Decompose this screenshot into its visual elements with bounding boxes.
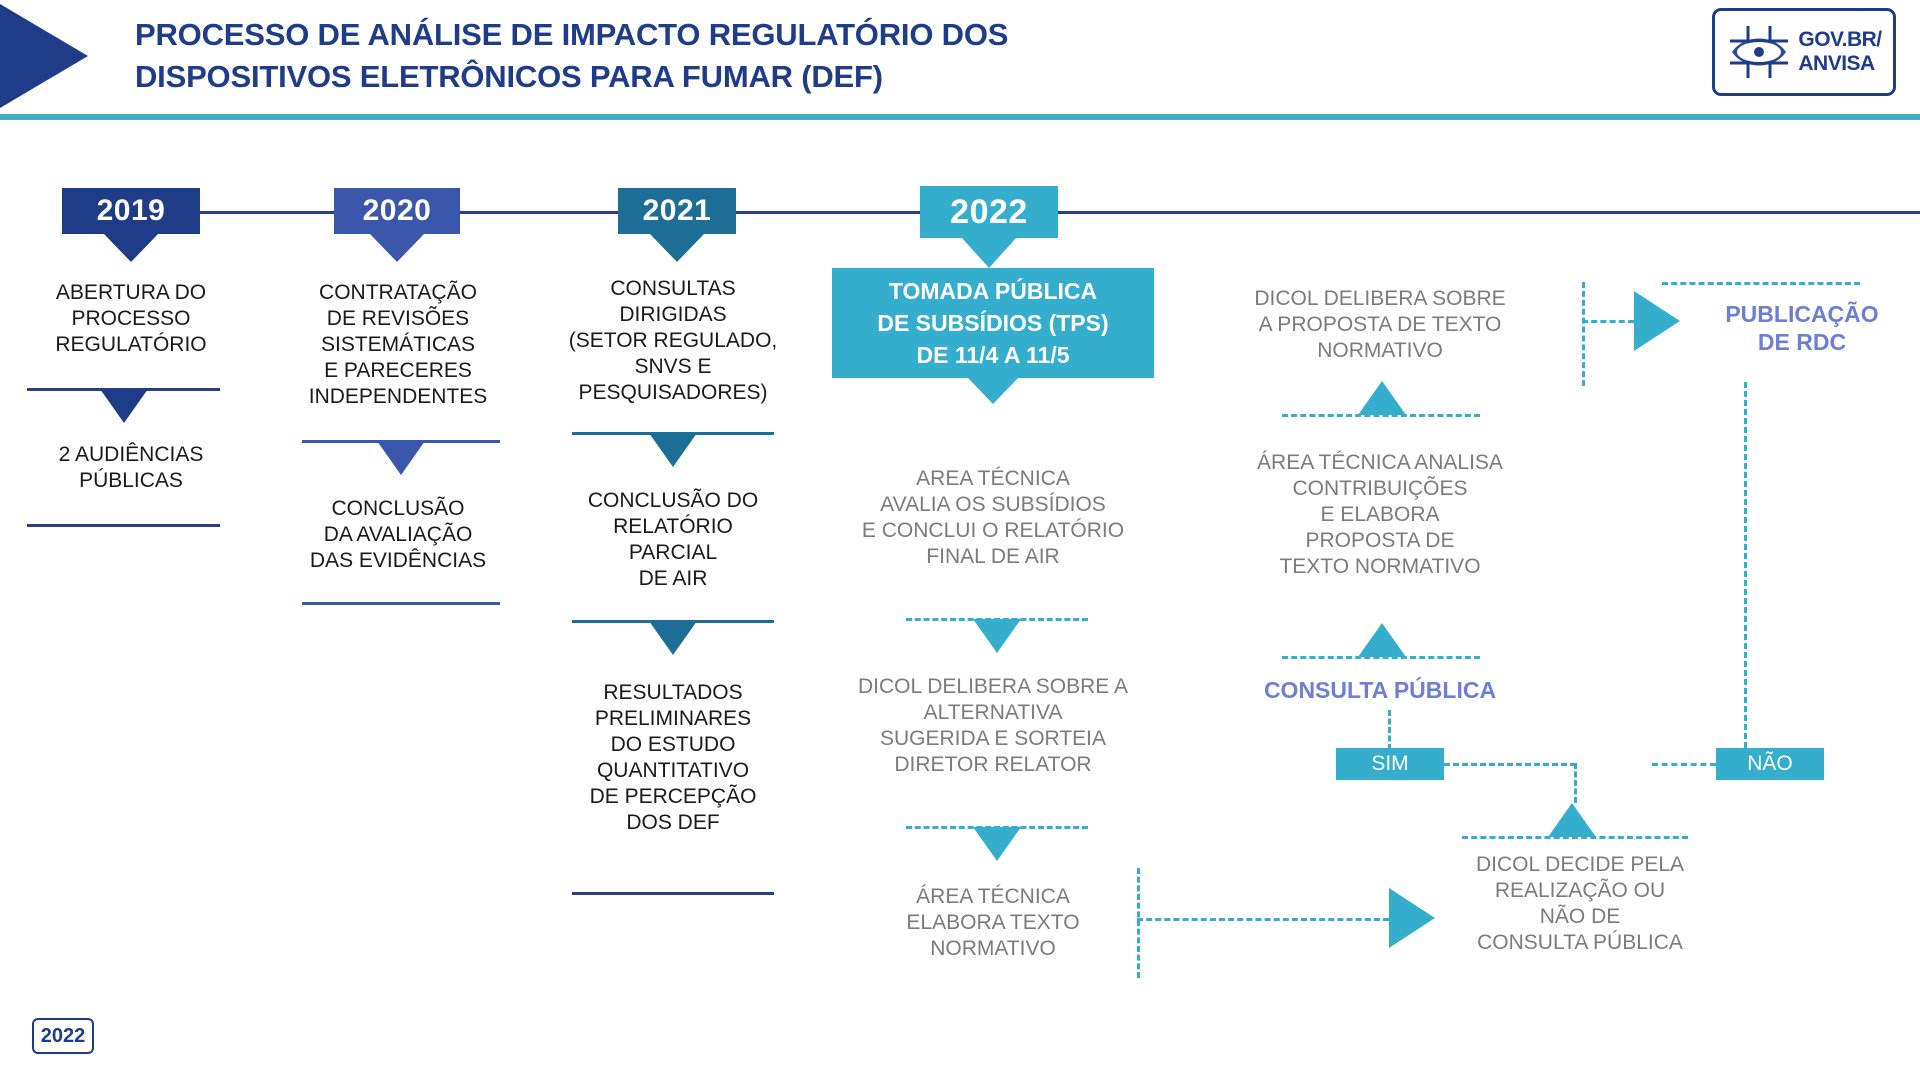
badge-nao[interactable]: NÃO [1716, 748, 1824, 780]
flow-dicol-decide-line3: NÃO DE [1432, 904, 1728, 930]
timeline-line-2022-end [1058, 211, 1920, 214]
logo-line1: GOV.BR/ [1798, 28, 1881, 52]
badge-sim-label: SIM [1371, 752, 1408, 776]
col-2020-step1-line1: CONTRATAÇÃO [272, 280, 524, 306]
flow-dash-vert-sim [1388, 710, 1391, 750]
flow-dicol-delibera: DICOL DELIBERA SOBRE A PROPOSTA DE TEXTO… [1230, 286, 1530, 364]
col-2019-step1-line2: PROCESSO [12, 306, 250, 332]
col-2020-step1-line2: DE REVISÕES [272, 306, 524, 332]
col-2019-step2-line1: 2 AUDIÊNCIAS [12, 442, 250, 468]
header-arrow-icon [0, 4, 88, 108]
page-title-line1: PROCESSO DE ANÁLISE DE IMPACTO REGULATÓR… [135, 14, 1435, 56]
col-2021-step2-line4: DE AIR [548, 566, 798, 592]
tps-highlight-box[interactable]: TOMADA PÚBLICA DE SUBSÍDIOS (TPS) DE 11/… [832, 268, 1154, 378]
tps-line1: TOMADA PÚBLICA [877, 275, 1108, 307]
tps-line2: DE SUBSÍDIOS (TPS) [877, 307, 1108, 339]
col-2020-step2-line1: CONCLUSÃO [272, 496, 524, 522]
col-2021-step1: CONSULTAS DIRIGIDAS (SETOR REGULADO, SNV… [548, 276, 798, 406]
col-2021-divider3 [572, 892, 774, 895]
col-2022-step2-line1: AREA TÉCNICA [826, 466, 1160, 492]
col-2022-step2-line4: FINAL DE AIR [826, 544, 1160, 570]
col-2021-arrow2-icon [649, 621, 697, 655]
col-2020-arrow1-icon [377, 441, 425, 475]
col-2022-step3-line3: SUGERIDA E SORTEIA [826, 726, 1160, 752]
flow-dicol-decide: DICOL DECIDE PELA REALIZAÇÃO OU NÃO DE C… [1432, 852, 1728, 956]
year-badge-2020[interactable]: 2020 [334, 188, 460, 234]
col-2019-step2: 2 AUDIÊNCIAS PÚBLICAS [12, 442, 250, 494]
year-label-2020: 2020 [363, 194, 432, 228]
col-2019-arrow1-icon [100, 389, 148, 423]
year-label-2022: 2022 [950, 193, 1028, 232]
flow-arrow-up-analisa-icon [1358, 381, 1406, 415]
col-2022-step2-line3: E CONCLUI O RELATÓRIO [826, 518, 1160, 544]
flow-consulta-publica-text: CONSULTA PÚBLICA [1264, 677, 1496, 703]
col-2021-step2-line1: CONCLUSÃO DO [548, 488, 798, 514]
col-2019-divider2 [27, 524, 220, 527]
flow-dash-vert-decide [1574, 763, 1577, 803]
flow-dash-vert-nao [1744, 382, 1747, 748]
col-2020-step2: CONCLUSÃO DA AVALIAÇÃO DAS EVIDÊNCIAS [272, 496, 524, 574]
year-label-2019: 2019 [97, 194, 166, 228]
flow-dash-rdc-top [1662, 282, 1860, 285]
flow-dicol-decide-line4: CONSULTA PÚBLICA [1432, 930, 1728, 956]
col-2020-step1-line3: SISTEMÁTICAS [272, 332, 524, 358]
col-2020-step1-line4: E PARECERES [272, 358, 524, 384]
flow-area-analisa-line3: E ELABORA [1230, 502, 1530, 528]
col-2021-step1-line4: SNVS E [548, 354, 798, 380]
col-2022-step3-line2: ALTERNATIVA [826, 700, 1160, 726]
col-2021-step3-line1: RESULTADOS [548, 680, 798, 706]
col-2022-step3: DICOL DELIBERA SOBRE A ALTERNATIVA SUGER… [826, 674, 1160, 778]
flow-area-analisa: ÁREA TÉCNICA ANALISA CONTRIBUIÇÕES E ELA… [1230, 450, 1530, 580]
flow-dicol-decide-line2: REALIZAÇÃO OU [1432, 878, 1728, 904]
col-2021-step1-line2: DIRIGIDAS [548, 302, 798, 328]
col-2019-step1: ABERTURA DO PROCESSO REGULATÓRIO [12, 280, 250, 358]
flow-arrow-up-decide-icon [1548, 803, 1596, 837]
flow-dash-vert-rdc [1582, 282, 1585, 386]
flow-dash-decide [1462, 836, 1688, 839]
logo-line2: ANVISA [1798, 52, 1881, 76]
year-pointer-2021 [650, 234, 704, 262]
year-pointer-2022 [962, 238, 1016, 268]
flow-publicacao-line2: DE RDC [1690, 328, 1914, 356]
col-2021-step2: CONCLUSÃO DO RELATÓRIO PARCIAL DE AIR [548, 488, 798, 592]
header-divider [0, 114, 1920, 120]
flow-arrow-right-rdc-icon [1634, 291, 1680, 351]
col-2020-step1: CONTRATAÇÃO DE REVISÕES SISTEMÁTICAS E P… [272, 280, 524, 410]
year-badge-2021[interactable]: 2021 [618, 188, 736, 234]
flow-dicol-delibera-line3: NORMATIVO [1230, 338, 1530, 364]
col-2022-step2-line2: AVALIA OS SUBSÍDIOS [826, 492, 1160, 518]
col-2021-step2-line2: RELATÓRIO [548, 514, 798, 540]
col-2022-step3-line1: DICOL DELIBERA SOBRE A [826, 674, 1160, 700]
col-2021-step1-line5: PESQUISADORES) [548, 380, 798, 406]
col-2021-arrow1-icon [649, 433, 697, 467]
logo-text: GOV.BR/ ANVISA [1798, 28, 1881, 76]
infographic-canvas: PROCESSO DE ANÁLISE DE IMPACTO REGULATÓR… [0, 0, 1920, 1080]
flow-area-analisa-line1: ÁREA TÉCNICA ANALISA [1230, 450, 1530, 476]
flow-dash-vert-bottomleft [1137, 868, 1140, 978]
year-badge-2019[interactable]: 2019 [62, 188, 200, 234]
col-2021-step3-line6: DOS DEF [548, 810, 798, 836]
col-2020-step1-line5: INDEPENDENTES [272, 384, 524, 410]
flow-publicacao-rdc-label: PUBLICAÇÃO DE RDC [1690, 300, 1914, 356]
flow-dash-sim-right [1444, 763, 1576, 766]
flow-dicol-delibera-line2: A PROPOSTA DE TEXTO [1230, 312, 1530, 338]
anvisa-logo: GOV.BR/ ANVISA [1712, 8, 1896, 96]
tps-line3: DE 11/4 A 11/5 [877, 339, 1108, 371]
flow-arrow-up-consulta-icon [1358, 623, 1406, 657]
page-title: PROCESSO DE ANÁLISE DE IMPACTO REGULATÓR… [135, 14, 1435, 98]
flow-dash-nao-left [1652, 763, 1716, 766]
header: PROCESSO DE ANÁLISE DE IMPACTO REGULATÓR… [0, 0, 1920, 114]
col-2021-step1-line3: (SETOR REGULADO, [548, 328, 798, 354]
flow-arrow-right-bottom-icon [1389, 888, 1435, 948]
badge-nao-label: NÃO [1747, 752, 1793, 776]
footer-year-label: 2022 [41, 1025, 86, 1048]
flow-dicol-decide-line1: DICOL DECIDE PELA [1432, 852, 1728, 878]
tps-text: TOMADA PÚBLICA DE SUBSÍDIOS (TPS) DE 11/… [877, 275, 1108, 371]
col-2021-step1-line1: CONSULTAS [548, 276, 798, 302]
year-label-2021: 2021 [643, 194, 712, 228]
col-2019-step1-line3: REGULATÓRIO [12, 332, 250, 358]
anvisa-eye-icon [1726, 22, 1792, 82]
col-2020-step2-line3: DAS EVIDÊNCIAS [272, 548, 524, 574]
col-2020-step2-line2: DA AVALIAÇÃO [272, 522, 524, 548]
col-2022-step3-line4: DIRETOR RELATOR [826, 752, 1160, 778]
col-2021-step3-line5: DE PERCEPÇÃO [548, 784, 798, 810]
col-2020-divider2 [302, 602, 500, 605]
year-pointer-2019 [104, 234, 158, 262]
flow-dash-bottom-right [1137, 918, 1389, 921]
flow-dicol-delibera-line1: DICOL DELIBERA SOBRE [1230, 286, 1530, 312]
col-2021-step3-line4: QUANTITATIVO [548, 758, 798, 784]
timeline-line-2019-2020 [200, 211, 334, 214]
col-2021-step3-line2: PRELIMINARES [548, 706, 798, 732]
year-badge-2022[interactable]: 2022 [920, 186, 1058, 238]
col-2021-step2-line3: PARCIAL [548, 540, 798, 566]
col-2022-step4-line1: ÁREA TÉCNICA [826, 884, 1160, 910]
col-2022-step4: ÁREA TÉCNICA ELABORA TEXTO NORMATIVO [826, 884, 1160, 962]
page-title-line2: DISPOSITIVOS ELETRÔNICOS PARA FUMAR (DEF… [135, 56, 1435, 98]
flow-dash-rdc-arrow [1582, 320, 1634, 323]
col-2022-arrow2-icon [973, 827, 1021, 861]
col-2022-step2: AREA TÉCNICA AVALIA OS SUBSÍDIOS E CONCL… [826, 466, 1160, 570]
year-pointer-2020 [370, 234, 424, 262]
col-2021-step3-line3: DO ESTUDO [548, 732, 798, 758]
col-2021-step3: RESULTADOS PRELIMINARES DO ESTUDO QUANTI… [548, 680, 798, 836]
col-2022-step4-line2: ELABORA TEXTO [826, 910, 1160, 936]
col-2022-arrow1-icon [973, 619, 1021, 653]
badge-sim[interactable]: SIM [1336, 748, 1444, 780]
timeline-line-2021-2022 [736, 211, 920, 214]
timeline-line-2020-2021 [460, 211, 618, 214]
flow-area-analisa-line2: CONTRIBUIÇÕES [1230, 476, 1530, 502]
col-2019-step1-line1: ABERTURA DO [12, 280, 250, 306]
flow-area-analisa-line5: TEXTO NORMATIVO [1230, 554, 1530, 580]
col-2019-step2-line2: PÚBLICAS [12, 468, 250, 494]
footer-year-badge: 2022 [32, 1018, 94, 1054]
flow-publicacao-line1: PUBLICAÇÃO [1690, 300, 1914, 328]
tps-pointer-icon [968, 378, 1018, 404]
flow-area-analisa-line4: PROPOSTA DE [1230, 528, 1530, 554]
flow-consulta-publica-label: CONSULTA PÚBLICA [1230, 676, 1530, 704]
col-2022-step4-line3: NORMATIVO [826, 936, 1160, 962]
